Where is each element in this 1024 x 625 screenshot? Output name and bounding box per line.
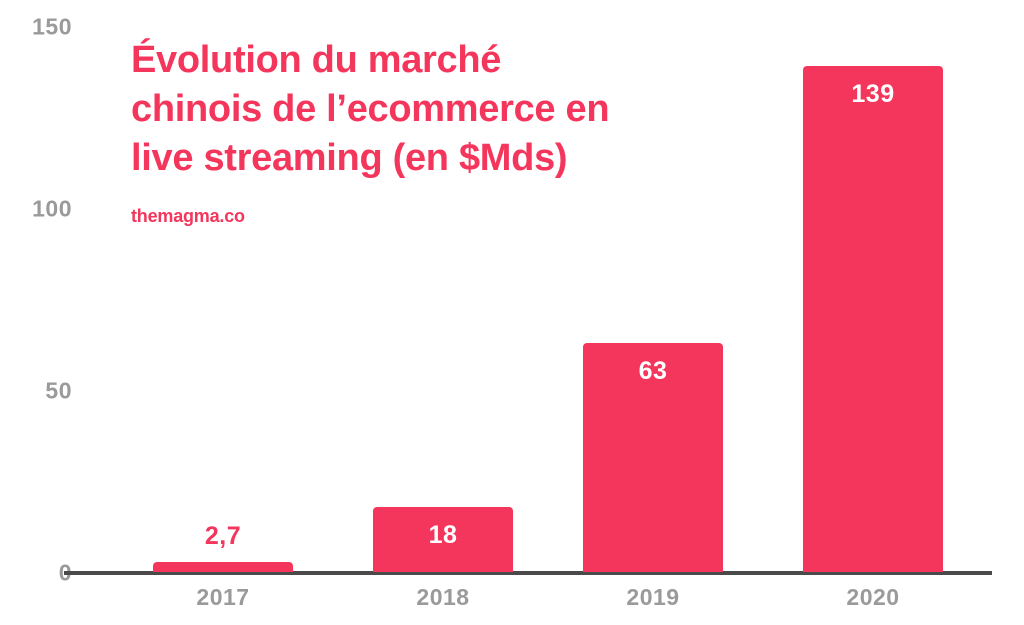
bar-2018[interactable]: 18 (373, 507, 513, 572)
bar-value-2019: 63 (583, 357, 723, 386)
bar-2017[interactable] (153, 562, 293, 572)
bar-2019[interactable]: 63 (583, 343, 723, 572)
chart-title-line-2: chinois de l’ecommerce en (131, 88, 609, 130)
x-tick-label-2018: 2018 (373, 584, 513, 611)
bar-value-2017: 2,7 (153, 522, 293, 551)
bar-value-2018: 18 (373, 521, 513, 550)
bar-2020[interactable]: 139 (803, 66, 943, 572)
chart-title: Évolution du marché chinois de l’ecommer… (131, 36, 751, 183)
y-tick-label: 150 (32, 14, 72, 41)
bar-chart: 150 100 50 0 2,7 2017 18 2018 (0, 0, 1024, 625)
x-tick-label-2020: 2020 (803, 584, 943, 611)
x-tick-label-2017: 2017 (153, 584, 293, 611)
y-tick-label: 50 (45, 378, 72, 405)
chart-title-line-1: Évolution du marché (131, 39, 501, 81)
watermark-label: themagma.co (131, 183, 751, 227)
x-tick-label-2019: 2019 (583, 584, 723, 611)
bar-value-2020: 139 (803, 80, 943, 109)
y-tick-label: 100 (32, 196, 72, 223)
chart-title-line-3: live streaming (en $Mds) (131, 137, 567, 179)
y-axis: 150 100 50 0 (0, 0, 80, 625)
title-block: Évolution du marché chinois de l’ecommer… (131, 36, 751, 227)
